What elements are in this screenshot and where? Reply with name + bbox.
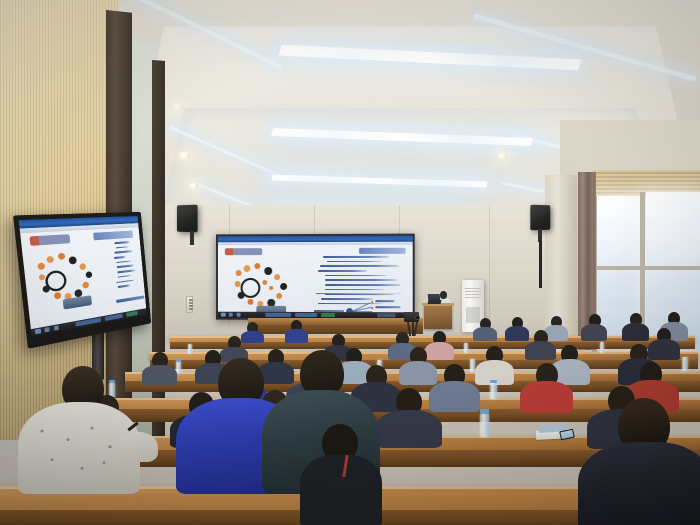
audience-torso (142, 365, 177, 385)
diagram-leaf (375, 306, 400, 308)
audience-torso (520, 381, 573, 413)
lecture-podium (424, 305, 452, 329)
water-bottle (176, 361, 181, 373)
slide-divider (316, 293, 402, 294)
water-bottle (600, 342, 604, 353)
audience-torso (241, 331, 264, 343)
water-bottle (682, 357, 688, 371)
video-camera-lens-icon (415, 315, 420, 320)
front-dais-rail (248, 318, 423, 325)
audience-arm (120, 432, 158, 462)
tv-diagram-root-label (116, 295, 144, 303)
ppt-menu-bar (218, 242, 413, 246)
audience-torso (285, 329, 308, 343)
speaker-pole (539, 240, 542, 288)
ceiling-downlight (178, 152, 190, 159)
presenter-head (440, 291, 447, 299)
audience-torso (300, 455, 382, 525)
audience-torso (581, 324, 607, 341)
shirt-pattern (30, 418, 130, 490)
audience-torso (399, 361, 437, 385)
speaker-bracket (190, 231, 194, 245)
slide-content (221, 246, 410, 313)
audience-torso (376, 410, 442, 448)
ceiling-downlight (497, 153, 507, 159)
bottle-cap (109, 380, 115, 383)
water-bottle (464, 343, 468, 353)
tv-slide-logo-left-icon (29, 234, 70, 246)
audience-torso (429, 381, 480, 412)
bottle-cap (480, 409, 489, 414)
audience-torso (622, 323, 649, 341)
front-dais-front (248, 325, 423, 334)
water-bottle (188, 344, 192, 354)
audience-torso (425, 342, 454, 360)
audience-torso (473, 327, 497, 341)
projection-screen (216, 234, 415, 321)
slide-canvas (218, 236, 413, 319)
audience-torso (525, 341, 556, 360)
water-bottle (480, 414, 489, 437)
tv-circle-cluster-graphic (36, 249, 110, 313)
tv-diagram-hub-node (146, 292, 147, 300)
tv-slide-logo-right-icon (93, 231, 133, 241)
water-bottle (490, 383, 497, 399)
diagram-leaf (375, 300, 394, 302)
audience-torso (505, 326, 529, 341)
slide-logo-right-icon (359, 248, 405, 254)
tv-slide-canvas (19, 216, 147, 337)
bottle-cap (490, 380, 497, 383)
ceiling-downlight (188, 183, 198, 189)
wall-speaker-right (530, 205, 550, 231)
ceiling-downlight (172, 104, 183, 110)
presenter-laptop-base (428, 300, 442, 304)
slide-circle-cluster-graphic (235, 262, 306, 316)
wall-speaker-left (177, 205, 198, 233)
lecture-hall-photo: Academic Lecture Hall Presentation Rear … (0, 0, 700, 525)
slide-logo-left-icon (225, 248, 262, 255)
audience-torso (648, 339, 680, 360)
bottle-cap (176, 359, 181, 362)
window-mullion (592, 266, 700, 270)
slide-branch-diagram (312, 298, 406, 304)
wall-control-panel[interactable] (186, 296, 193, 313)
audience-torso (578, 442, 700, 525)
tv-branch-diagram (113, 284, 139, 306)
